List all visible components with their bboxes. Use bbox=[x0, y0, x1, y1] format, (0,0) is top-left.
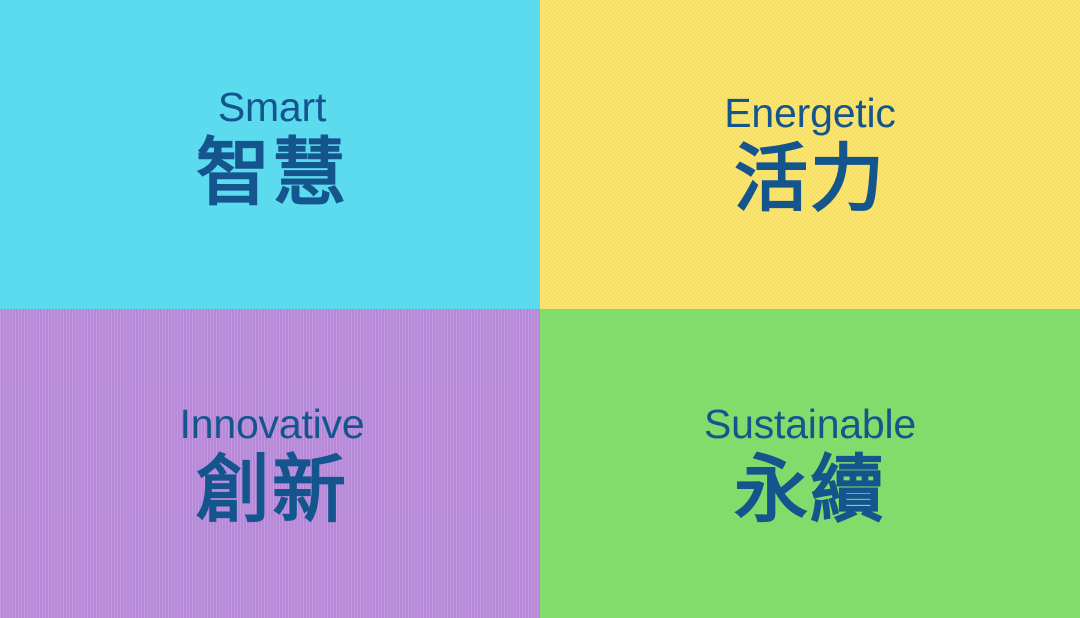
value-label-en-energetic: Energetic bbox=[724, 93, 895, 134]
value-cell-energetic: Energetic 活力 bbox=[540, 0, 1080, 309]
value-label-zh-energetic: 活力 bbox=[734, 142, 886, 216]
value-label-zh-innovative: 創新 bbox=[196, 453, 348, 527]
value-cell-smart: Smart 智慧 bbox=[0, 0, 540, 309]
value-text-stack-innovative: Innovative 創新 bbox=[180, 404, 365, 527]
value-text-stack-sustainable: Sustainable 永續 bbox=[704, 404, 916, 527]
value-label-zh-smart: 智慧 bbox=[196, 136, 348, 210]
value-text-stack-smart: Smart 智慧 bbox=[196, 87, 348, 210]
brand-values-grid: Smart 智慧 Energetic 活力 Innovative 創新 Sust… bbox=[0, 0, 1080, 618]
value-cell-sustainable: Sustainable 永續 bbox=[540, 309, 1080, 618]
value-label-en-smart: Smart bbox=[218, 87, 326, 128]
value-label-en-sustainable: Sustainable bbox=[704, 404, 916, 445]
value-label-en-innovative: Innovative bbox=[180, 404, 365, 445]
value-text-stack-energetic: Energetic 活力 bbox=[724, 93, 895, 216]
value-cell-innovative: Innovative 創新 bbox=[0, 309, 540, 618]
value-label-zh-sustainable: 永續 bbox=[734, 453, 886, 527]
